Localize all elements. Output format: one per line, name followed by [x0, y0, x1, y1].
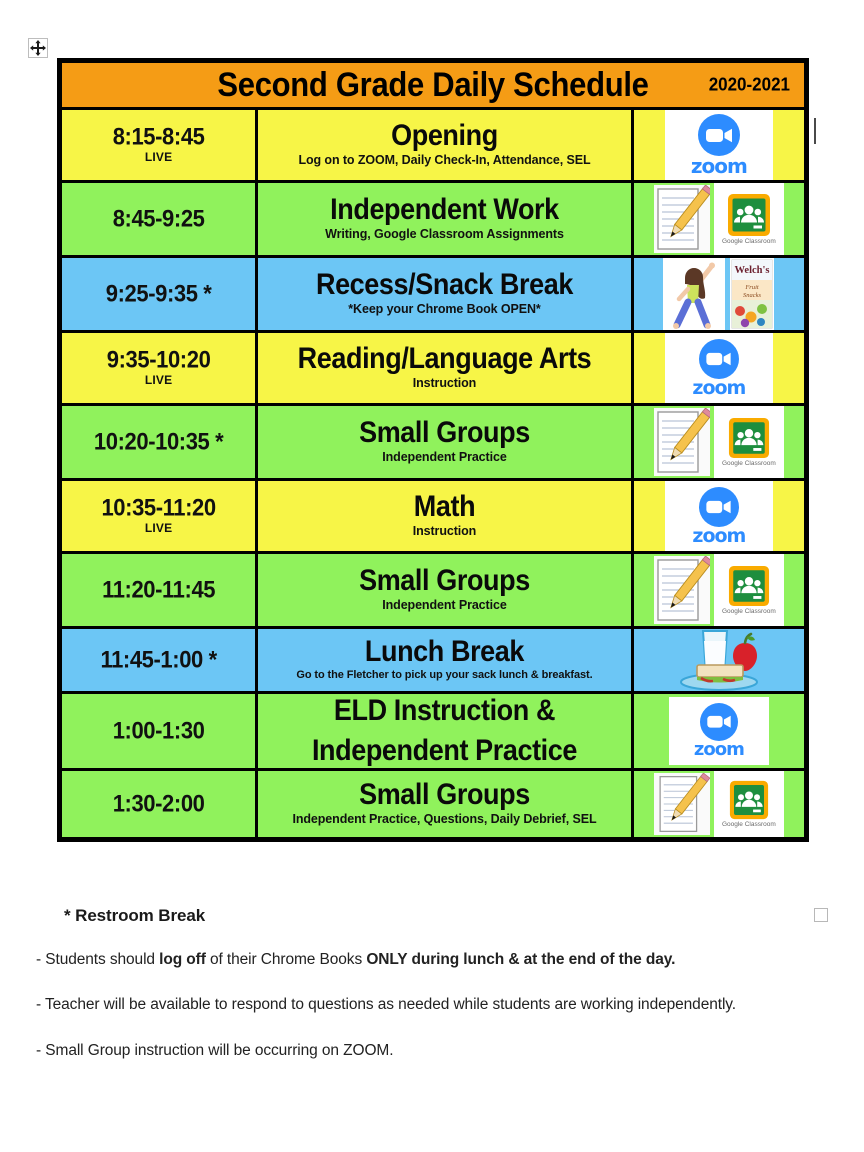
video-camera-icon [706, 128, 732, 143]
activity-cell: Small Groups Independent Practice [257, 553, 633, 628]
note-emphasis: ONLY during lunch & at the end of the da… [366, 951, 675, 968]
table-row: 1:00-1:30 ELD Instruction & Independent … [60, 693, 807, 770]
table-row: 9:25-9:35 * Recess/Snack Break *Keep you… [60, 257, 807, 332]
time-cell: 9:35-10:20 LIVE [60, 332, 257, 405]
activity-detail: Independent Practice, Questions, Daily D… [258, 812, 631, 828]
google-classroom-glyph [727, 193, 771, 237]
video-camera-icon [707, 715, 731, 729]
paper-pencil-glyph [654, 408, 710, 476]
zoom-wordmark: zoom [692, 379, 745, 398]
paper-pencil-icon [654, 556, 710, 624]
stretching-girl-glyph [667, 259, 721, 329]
google-classroom-icon: Google Classroom [714, 554, 784, 626]
table-row: 10:35-11:20 LIVE Math Instruction [60, 480, 807, 553]
activity-cell: Reading/Language Arts Instruction [257, 332, 633, 405]
activity-detail: Writing, Google Classroom Assignments [258, 227, 631, 243]
paper-pencil-icon [654, 185, 710, 253]
activity-cell: Math Instruction [257, 480, 633, 553]
icon-cell: Google Classroom [632, 182, 806, 257]
google-classroom-label: Google Classroom [722, 238, 776, 245]
time-cell: 9:25-9:35 * [60, 257, 257, 332]
time-range: 11:45-1:00 * [62, 647, 255, 674]
paper-pencil-glyph [654, 773, 710, 835]
activity-title: Recess/Snack Break [258, 269, 631, 302]
move-arrows-icon [29, 39, 47, 57]
google-classroom-label: Google Classroom [722, 460, 776, 467]
google-classroom-glyph [728, 417, 770, 459]
time-range: 8:15-8:45 [62, 124, 255, 151]
zoom-wordmark: zoom [692, 527, 745, 546]
table-row: 11:20-11:45 Small Groups Independent Pra… [60, 553, 807, 628]
note-item: - Students should log off of their Chrom… [36, 948, 826, 971]
time-range: 9:25-9:35 * [62, 281, 255, 308]
activity-title: Lunch Break [258, 636, 631, 669]
stretching-girl-icon [663, 258, 725, 330]
live-badge: LIVE [62, 521, 255, 537]
activity-cell: Small Groups Independent Practice, Quest… [257, 770, 633, 840]
icon-cell: Google Classroom [632, 770, 806, 840]
svg-text:Welch's: Welch's [735, 265, 770, 276]
icon-cell [632, 628, 806, 693]
table-row: 10:20-10:35 * Small Groups Independent P… [60, 405, 807, 480]
welchs-fruit-snacks-icon: Welch's Fruit Snacks [730, 258, 774, 330]
table-row: 1:30-2:00 Small Groups Independent Pract… [60, 770, 807, 840]
zoom-icon: zoom [665, 110, 773, 180]
note-text: - Teacher will be available to respond t… [36, 996, 736, 1013]
activity-cell: Recess/Snack Break *Keep your Chrome Boo… [257, 257, 633, 332]
note-text: - Small Group instruction will be occurr… [36, 1042, 393, 1059]
activity-title-line1: ELD Instruction & [258, 695, 631, 728]
table-row: 8:45-9:25 Independent Work Writing, Goog… [60, 182, 807, 257]
time-cell: 10:35-11:20 LIVE [60, 480, 257, 553]
time-range: 10:35-11:20 [62, 495, 255, 522]
zoom-wordmark: zoom [691, 156, 747, 176]
daily-schedule-table: Second Grade Daily Schedule 2020-2021 8:… [57, 58, 809, 842]
activity-cell: Opening Log on to ZOOM, Daily Check-In, … [257, 109, 633, 182]
icon-cell: Google Classroom [632, 405, 806, 480]
activity-title: Small Groups [258, 565, 631, 598]
google-classroom-icon: Google Classroom [714, 771, 784, 837]
activity-detail: Independent Practice [258, 598, 631, 614]
video-camera-icon [706, 500, 731, 514]
activity-detail: *Keep your Chrome Book OPEN* [258, 302, 631, 318]
activity-detail: Independent Practice [258, 450, 631, 466]
google-classroom-glyph [729, 780, 769, 820]
note-item: - Small Group instruction will be occurr… [36, 1039, 826, 1062]
activity-cell: Lunch Break Go to the Fletcher to pick u… [257, 628, 633, 693]
note-text: of their Chrome Books [206, 951, 367, 968]
activity-cell: Independent Work Writing, Google Classro… [257, 182, 633, 257]
google-classroom-icon: Google Classroom [714, 406, 784, 478]
live-badge: LIVE [62, 150, 255, 166]
activity-title: Math [258, 491, 631, 524]
icon-cell: zoom [632, 109, 806, 182]
zoom-wordmark: zoom [694, 741, 744, 759]
google-classroom-glyph [728, 565, 770, 607]
welchs-package-glyph: Welch's Fruit Snacks [731, 259, 773, 329]
time-cell: 10:20-10:35 * [60, 405, 257, 480]
time-range: 11:20-11:45 [62, 577, 255, 604]
paper-pencil-glyph [654, 185, 710, 253]
paper-pencil-icon [654, 408, 710, 476]
icon-cell: zoom [632, 693, 806, 770]
live-badge: LIVE [62, 373, 255, 389]
activity-title: Opening [258, 120, 631, 153]
svg-text:Snacks: Snacks [743, 292, 762, 299]
time-cell: 8:15-8:45 LIVE [60, 109, 257, 182]
time-cell: 8:45-9:25 [60, 182, 257, 257]
activity-title: Independent Work [258, 194, 631, 227]
time-range: 1:00-1:30 [62, 718, 255, 745]
table-header-row: Second Grade Daily Schedule 2020-2021 [60, 61, 807, 109]
table-row: 9:35-10:20 LIVE Reading/Language Arts In… [60, 332, 807, 405]
time-range: 10:20-10:35 * [62, 429, 255, 456]
svg-text:Fruit: Fruit [745, 284, 760, 291]
icon-cell: Welch's Fruit Snacks [632, 257, 806, 332]
activity-cell: ELD Instruction & Independent Practice [257, 693, 633, 770]
restroom-break-note: * Restroom Break [64, 906, 826, 926]
zoom-icon: zoom [665, 333, 773, 403]
activity-detail: Go to the Fletcher to pick up your sack … [258, 669, 631, 683]
activity-title: Small Groups [258, 417, 631, 450]
time-cell: 1:30-2:00 [60, 770, 257, 840]
page-edge-tick-top [814, 118, 816, 144]
google-classroom-icon: Google Classroom [714, 183, 784, 255]
lunch-tray-icon [665, 629, 773, 691]
school-year-label: 2020-2021 [709, 74, 790, 96]
activity-title: Reading/Language Arts [258, 343, 631, 376]
paper-pencil-icon [654, 773, 710, 835]
table-move-handle[interactable] [28, 38, 48, 58]
paper-pencil-glyph [654, 556, 710, 624]
schedule-title-bar: Second Grade Daily Schedule 2020-2021 [60, 61, 807, 109]
activity-title-line2: Independent Practice [258, 735, 631, 768]
activity-detail: Log on to ZOOM, Daily Check-In, Attendan… [258, 153, 631, 169]
google-classroom-label: Google Classroom [722, 821, 776, 828]
note-emphasis: log off [159, 951, 206, 968]
icon-cell: zoom [632, 480, 806, 553]
page-title: Second Grade Daily Schedule [217, 65, 648, 105]
time-cell: 11:20-11:45 [60, 553, 257, 628]
table-row: 8:15-8:45 LIVE Opening Log on to ZOOM, D… [60, 109, 807, 182]
note-item: - Teacher will be available to respond t… [36, 993, 826, 1016]
time-cell: 11:45-1:00 * [60, 628, 257, 693]
time-range: 9:35-10:20 [62, 347, 255, 374]
icon-cell: zoom [632, 332, 806, 405]
note-text: - Students should [36, 951, 159, 968]
activity-title: Small Groups [258, 779, 631, 812]
time-range: 1:30-2:00 [62, 791, 255, 818]
time-cell: 1:00-1:30 [60, 693, 257, 770]
table-row: 11:45-1:00 * Lunch Break Go to the Fletc… [60, 628, 807, 693]
google-classroom-label: Google Classroom [722, 608, 776, 615]
activity-detail: Instruction [258, 524, 631, 540]
zoom-icon: zoom [665, 481, 773, 551]
time-range: 8:45-9:25 [62, 206, 255, 233]
footer-notes: * Restroom Break - Students should log o… [36, 906, 826, 1084]
icon-cell: Google Classroom [632, 553, 806, 628]
activity-detail: Instruction [258, 376, 631, 392]
zoom-icon: zoom [669, 697, 769, 765]
video-camera-icon [706, 352, 731, 366]
activity-cell: Small Groups Independent Practice [257, 405, 633, 480]
